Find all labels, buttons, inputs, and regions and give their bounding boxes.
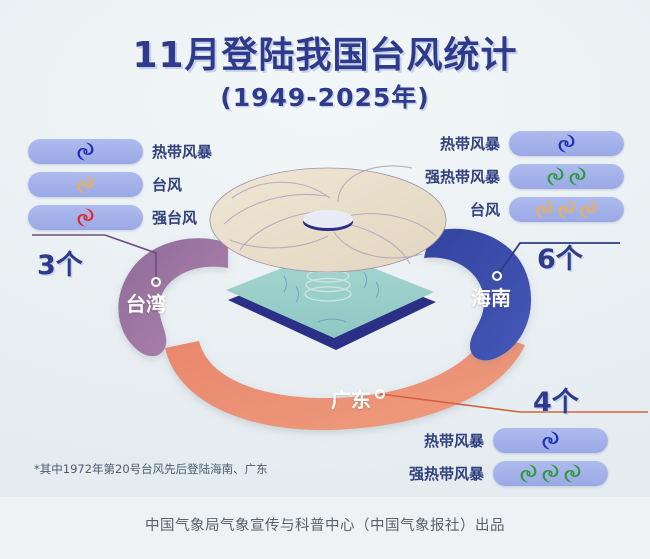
icon-group-strong-typhoon xyxy=(75,207,96,228)
legend-label-hainan-1: 强热带风暴 xyxy=(425,166,500,187)
legend-label-guangdong-1: 强热带风暴 xyxy=(409,463,484,484)
severe-tropical-storm-icon xyxy=(562,463,583,484)
legend-pill-hainan-0 xyxy=(509,131,624,156)
icon-group-severe-tropical-storm xyxy=(545,166,588,187)
severe-tropical-storm-icon xyxy=(545,166,566,187)
icon-group-tropical-storm xyxy=(75,141,96,162)
legend-label-hainan-2: 台风 xyxy=(470,199,500,220)
tropical-storm-icon xyxy=(556,133,577,154)
legend-pill-taiwan-1 xyxy=(28,172,143,197)
typhoon-icon xyxy=(534,199,555,220)
legend-hainan-row-1[interactable]: 强热带风暴 xyxy=(425,164,624,189)
legend-label-taiwan-1: 台风 xyxy=(152,174,182,195)
legend-label-taiwan-0: 热带风暴 xyxy=(152,141,212,162)
legend-taiwan-row-0[interactable]: 热带风暴 xyxy=(28,139,212,164)
legend-pill-hainan-2 xyxy=(509,197,624,222)
typhoon-icon xyxy=(75,174,96,195)
dot-hainan xyxy=(493,272,501,280)
count-taiwan: 3个 xyxy=(37,243,83,282)
legend-pill-guangdong-1 xyxy=(493,461,608,486)
legend-hainan-row-0[interactable]: 热带风暴 xyxy=(440,131,624,156)
strong-typhoon-icon xyxy=(75,207,96,228)
count-guangdong: 4个 xyxy=(533,380,579,419)
page-title: 11月登陆我国台风统计 xyxy=(0,26,650,78)
legend-taiwan-row-2[interactable]: 强台风 xyxy=(28,205,197,230)
dot-guangdong xyxy=(376,390,384,398)
legend-pill-taiwan-2 xyxy=(28,205,143,230)
region-label-guangdong: 广东 xyxy=(331,384,371,413)
legend-taiwan-row-1[interactable]: 台风 xyxy=(28,172,182,197)
icon-group-tropical-storm xyxy=(556,133,577,154)
typhoon-icon xyxy=(578,199,599,220)
region-label-taiwan: 台湾 xyxy=(126,288,166,317)
legend-guangdong-row-1[interactable]: 强热带风暴 xyxy=(409,461,608,486)
severe-tropical-storm-icon xyxy=(518,463,539,484)
icon-group-tropical-storm xyxy=(540,430,561,451)
severe-tropical-storm-icon xyxy=(567,166,588,187)
count-hainan: 6个 xyxy=(537,237,583,276)
dot-taiwan xyxy=(152,278,160,286)
legend-hainan-row-2[interactable]: 台风 xyxy=(470,197,624,222)
legend-pill-guangdong-0 xyxy=(493,428,608,453)
legend-pill-hainan-1 xyxy=(509,164,624,189)
severe-tropical-storm-icon xyxy=(540,463,561,484)
icon-group-severe-tropical-storm xyxy=(518,463,583,484)
legend-guangdong-row-0[interactable]: 热带风暴 xyxy=(424,428,608,453)
region-label-hainan: 海南 xyxy=(471,282,511,311)
icon-group-typhoon xyxy=(534,199,599,220)
legend-pill-taiwan-0 xyxy=(28,139,143,164)
footnote: *其中1972年第20号台风先后登陆海南、广东 xyxy=(34,461,268,477)
tropical-storm-icon xyxy=(540,430,561,451)
icon-group-typhoon xyxy=(75,174,96,195)
tropical-storm-icon xyxy=(75,141,96,162)
typhoon-icon xyxy=(556,199,577,220)
legend-label-hainan-0: 热带风暴 xyxy=(440,133,500,154)
legend-label-taiwan-2: 强台风 xyxy=(152,207,197,228)
credit-text: 中国气象局气象宣传与科普中心（中国气象报社）出品 xyxy=(0,514,650,535)
legend-label-guangdong-0: 热带风暴 xyxy=(424,430,484,451)
page-subtitle: (1949-2025年) xyxy=(0,78,650,114)
